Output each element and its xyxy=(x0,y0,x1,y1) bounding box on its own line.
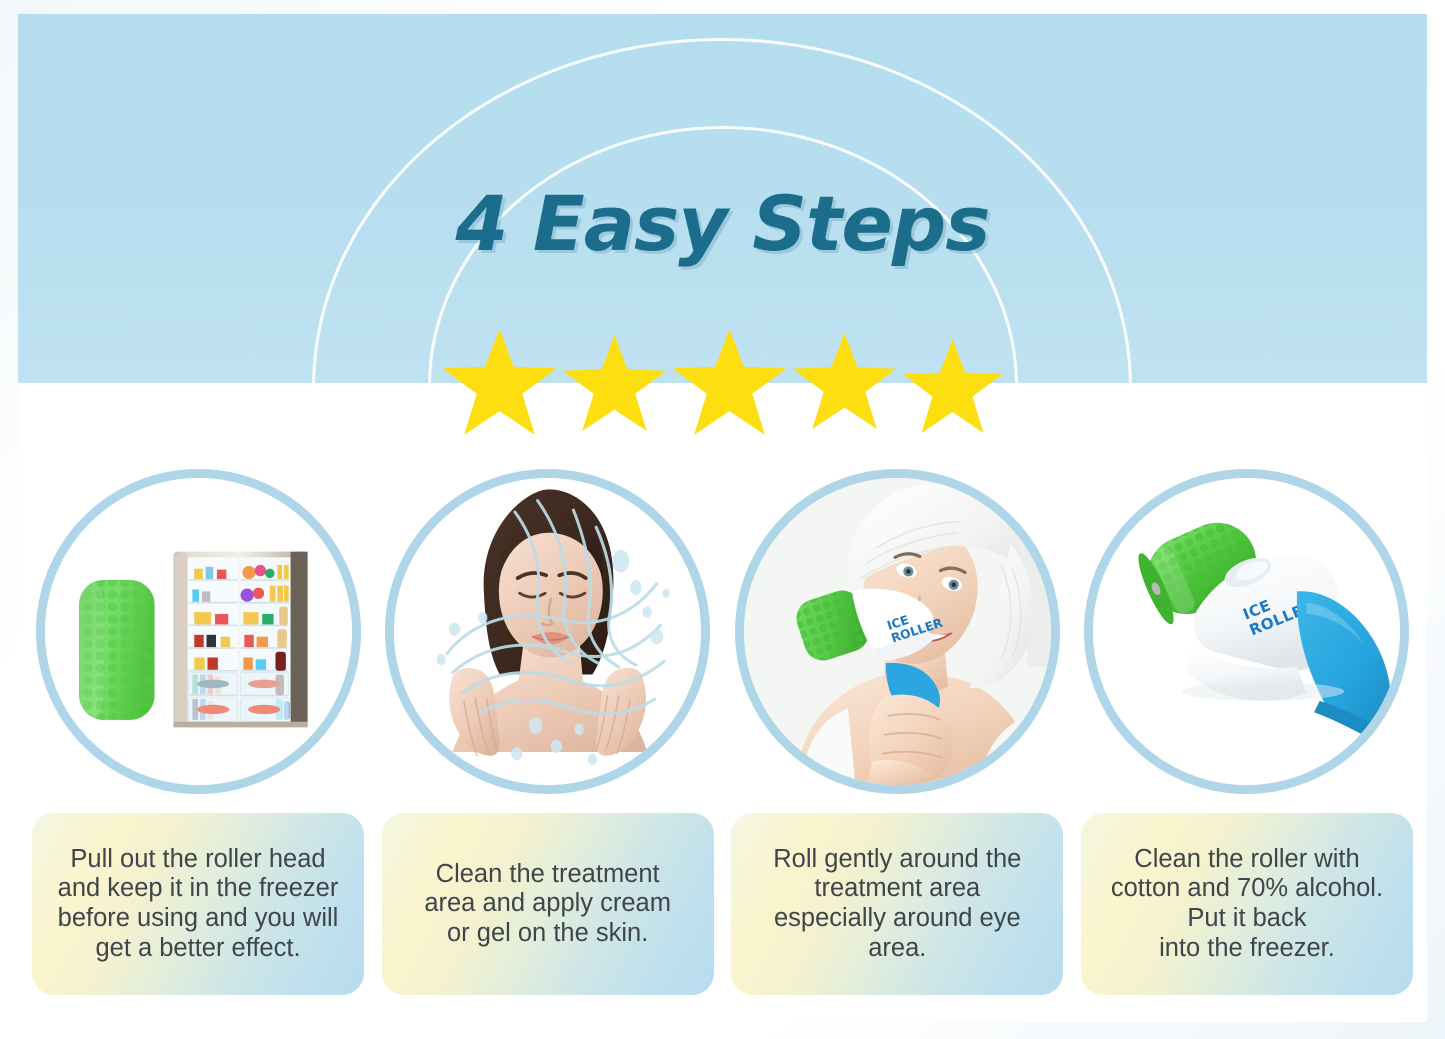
step-4: ICE ROLLER Clean the roll xyxy=(1080,469,1414,995)
poster-canvas: 4 Easy Steps xyxy=(18,14,1427,1022)
page-title: 4 Easy Steps xyxy=(18,179,1427,268)
woman-splashing-water-on-face-photo xyxy=(394,478,701,785)
step-3-photo-frame: ICE ROLLER xyxy=(735,469,1060,794)
header-band: 4 Easy Steps xyxy=(18,14,1427,383)
step-4-caption: Clean the roller with cotton and 70% alc… xyxy=(1111,845,1383,963)
step-1-photo-frame xyxy=(36,469,361,794)
steps-row: Pull out the roller head and keep it in … xyxy=(18,469,1427,995)
step-3: ICE ROLLER xyxy=(730,469,1064,995)
infographic-poster: 4 Easy Steps xyxy=(0,0,1445,1039)
step-3-caption: Roll gently around the treatment area es… xyxy=(773,845,1021,963)
ice-roller-product-photo: ICE ROLLER xyxy=(1093,478,1400,785)
roller-head-and-refrigerator-photo xyxy=(45,478,352,785)
step-4-caption-card: Clean the roller with cotton and 70% alc… xyxy=(1081,813,1413,995)
step-2: Clean the treatment area and apply cream… xyxy=(381,469,715,995)
step-2-photo-frame xyxy=(385,469,710,794)
step-3-caption-card: Roll gently around the treatment area es… xyxy=(731,813,1063,995)
step-2-caption: Clean the treatment area and apply cream… xyxy=(424,860,671,949)
step-1-caption-card: Pull out the roller head and keep it in … xyxy=(32,813,364,995)
woman-using-ice-roller-on-face-photo: ICE ROLLER xyxy=(744,478,1051,785)
step-2-caption-card: Clean the treatment area and apply cream… xyxy=(382,813,714,995)
step-1-caption: Pull out the roller head and keep it in … xyxy=(58,845,339,963)
step-4-photo-frame: ICE ROLLER xyxy=(1084,469,1409,794)
step-1: Pull out the roller head and keep it in … xyxy=(31,469,365,995)
